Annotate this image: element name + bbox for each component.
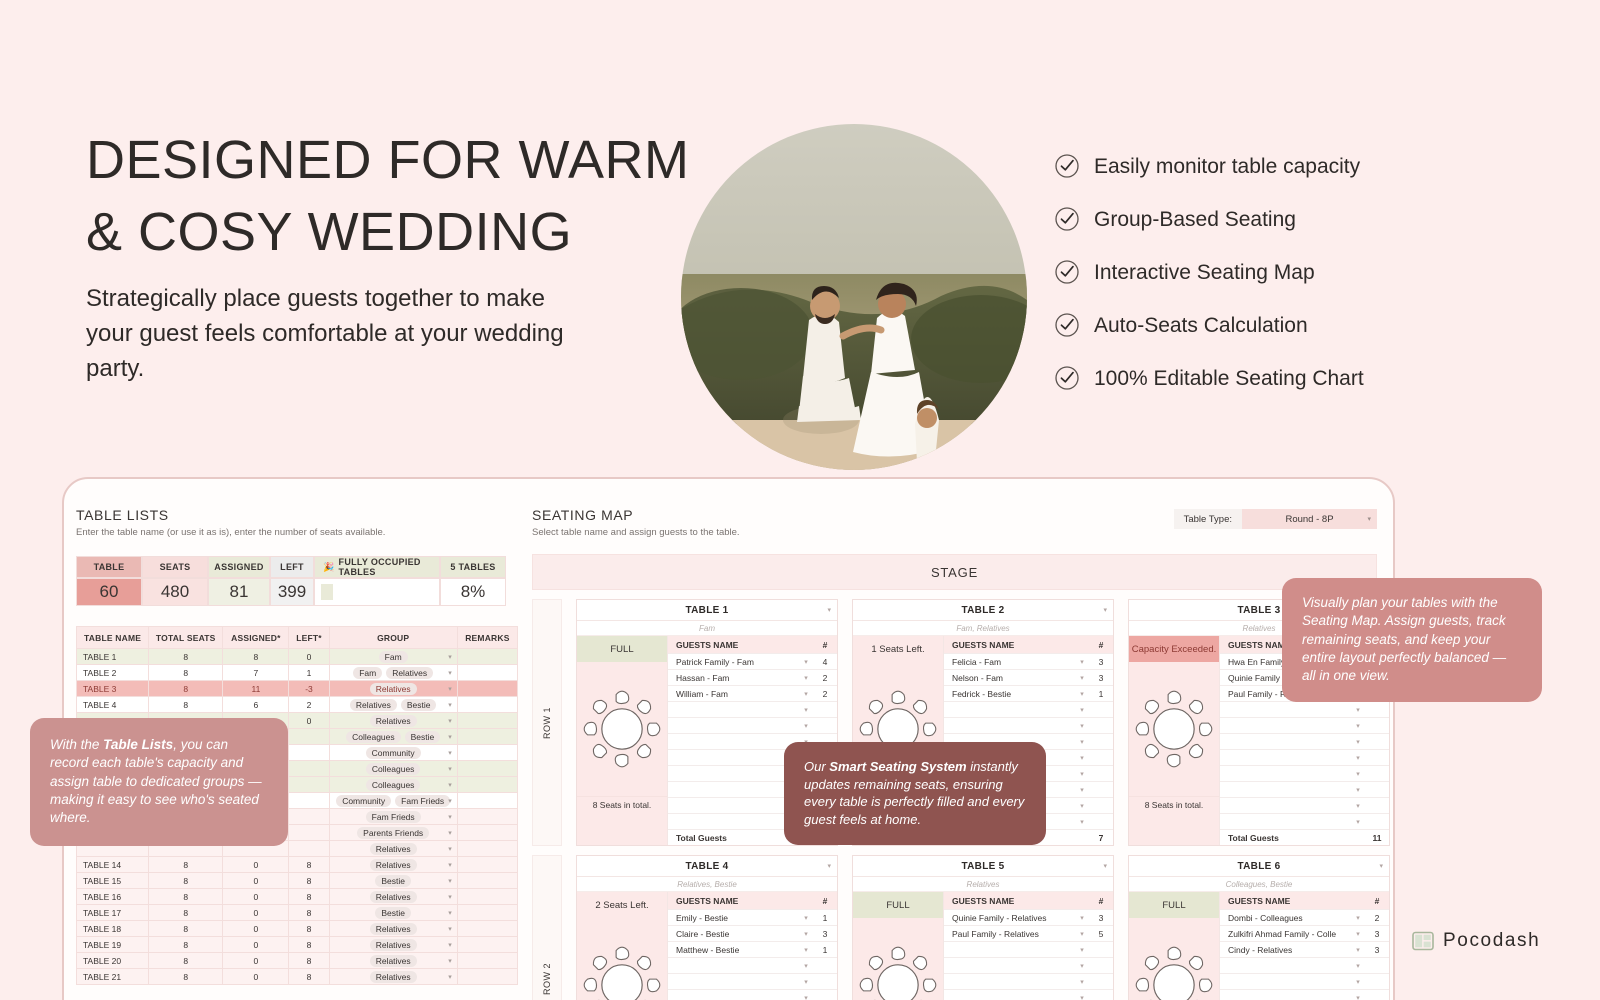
chevron-down-icon[interactable]: ▾ [448, 685, 452, 693]
summary-values-row: 60 480 81 399 8% [76, 578, 506, 606]
cell-left[interactable]: 8 [289, 953, 329, 969]
cell-left[interactable]: 8 [289, 969, 329, 985]
feature-item-3: Auto-Seats Calculation [1054, 299, 1474, 351]
chevron-down-icon[interactable]: ▾ [1351, 930, 1365, 938]
summary-value-left: 399 [270, 578, 314, 606]
chevron-down-icon[interactable]: ▾ [1351, 994, 1365, 1000]
guest-name: Nelson - Fam [944, 673, 1075, 683]
guest-row[interactable]: ▾ [1220, 957, 1389, 973]
chevron-down-icon[interactable]: ▾ [1075, 818, 1089, 826]
cell-assigned[interactable]: 0 [223, 889, 289, 905]
chevron-down-icon[interactable]: ▾ [1075, 706, 1089, 714]
guest-count: 2 [813, 689, 837, 699]
cell-group[interactable]: FamRelatives▾ [329, 665, 457, 681]
total-guests-value: 7 [1089, 833, 1113, 843]
cell-group[interactable]: Bestie▾ [329, 873, 457, 889]
cell-total[interactable]: 8 [149, 937, 223, 953]
cell-left[interactable]: 8 [289, 937, 329, 953]
cell-group[interactable]: Fam Frieds▾ [329, 809, 457, 825]
cell-name[interactable]: TABLE 1 [77, 649, 149, 665]
cell-group[interactable]: Relatives▾ [329, 857, 457, 873]
group-chip: Fam Frieds [366, 811, 421, 823]
cell-left[interactable]: 1 [289, 665, 329, 681]
guest-count: 1 [1089, 689, 1113, 699]
cell-remarks[interactable] [457, 745, 517, 761]
chevron-down-icon[interactable]: ▾ [448, 797, 452, 805]
summary-header-row: TABLE SEATS ASSIGNED LEFT 🎉 FULLY OCCUPI… [76, 556, 506, 578]
chevron-down-icon[interactable]: ▾ [1351, 786, 1365, 794]
group-chip: Community [336, 795, 391, 807]
guest-count: 3 [813, 929, 837, 939]
page-subtitle: Strategically place guests together to m… [86, 281, 586, 386]
group-chip: Bestie [405, 731, 441, 743]
chevron-down-icon[interactable]: ▾ [1075, 658, 1089, 666]
guest-row[interactable]: ▾ [1220, 813, 1389, 829]
chevron-down-icon[interactable]: ▾ [1351, 722, 1365, 730]
count-header: # [813, 896, 837, 906]
chevron-down-icon[interactable]: ▾ [827, 862, 831, 870]
chevron-down-icon[interactable]: ▾ [1075, 930, 1089, 938]
cell-remarks[interactable] [457, 825, 517, 841]
chevron-down-icon[interactable]: ▾ [1075, 802, 1089, 810]
cell-total[interactable]: 8 [149, 681, 223, 697]
cell-assigned[interactable]: 0 [223, 905, 289, 921]
table-row[interactable]: TABLE 21808Relatives▾ [77, 969, 518, 985]
cell-remarks[interactable] [457, 921, 517, 937]
cell-left[interactable] [289, 809, 329, 825]
guests-name-header: GUESTS NAME [1220, 896, 1365, 906]
guest-list: GUESTS NAME # Emily - Bestie ▾ 1 Claire … [667, 892, 837, 1000]
guest-name: Quinie Family - Relatives [944, 913, 1075, 923]
table-row[interactable]: TABLE 1880Fam▾ [77, 649, 518, 665]
cell-assigned[interactable]: 0 [223, 857, 289, 873]
table-status-badge: FULL [853, 892, 943, 918]
chevron-down-icon[interactable]: ▾ [1351, 978, 1365, 986]
check-circle-icon [1054, 365, 1080, 391]
guest-row[interactable]: Paul Family - Relatives ▾ 5 [944, 925, 1113, 941]
guest-row[interactable]: Felicia - Fam ▾ 3 [944, 653, 1113, 669]
cell-total[interactable]: 8 [149, 969, 223, 985]
cell-total[interactable]: 8 [149, 905, 223, 921]
chevron-down-icon[interactable]: ▾ [448, 845, 452, 853]
chevron-down-icon[interactable]: ▾ [448, 733, 452, 741]
guests-name-header: GUESTS NAME [668, 640, 813, 650]
chevron-down-icon[interactable]: ▾ [1379, 862, 1383, 870]
chevron-down-icon[interactable]: ▾ [448, 765, 452, 773]
cell-left[interactable]: 0 [289, 649, 329, 665]
cell-remarks[interactable] [457, 905, 517, 921]
table-row[interactable]: TABLE 4862RelativesBestie▾ [77, 697, 518, 713]
guest-name: Emily - Bestie [668, 913, 799, 923]
cell-left[interactable] [289, 825, 329, 841]
table-row[interactable]: TABLE 19808Relatives▾ [77, 937, 518, 953]
cell-name[interactable]: TABLE 18 [77, 921, 149, 937]
chevron-down-icon[interactable]: ▾ [799, 946, 813, 954]
guest-row[interactable]: ▾ [944, 701, 1113, 717]
group-chip: Bestie [401, 699, 437, 711]
table-lists-header-row: TABLE NAME TOTAL SEATS ASSIGNED* LEFT* G… [77, 627, 518, 649]
group-chip: Relatives [370, 859, 417, 871]
cell-group[interactable]: Colleagues▾ [329, 761, 457, 777]
table-card[interactable]: TABLE 6 ▾ Colleagues, Bestie FULL [1128, 855, 1390, 1000]
chevron-down-icon[interactable]: ▾ [1351, 754, 1365, 762]
cell-remarks[interactable] [457, 857, 517, 873]
chevron-down-icon[interactable]: ▾ [1351, 946, 1365, 954]
chevron-down-icon[interactable]: ▾ [799, 706, 813, 714]
cell-group[interactable]: Parents Friends▾ [329, 825, 457, 841]
guest-row[interactable]: ▾ [668, 957, 837, 973]
chevron-down-icon[interactable]: ▾ [448, 701, 452, 709]
chevron-down-icon[interactable]: ▾ [799, 674, 813, 682]
cell-remarks[interactable] [457, 873, 517, 889]
chevron-down-icon[interactable]: ▾ [448, 829, 452, 837]
guest-row[interactable]: ▾ [1220, 765, 1389, 781]
summary-value-seats: 480 [142, 578, 208, 606]
chevron-down-icon[interactable]: ▾ [448, 941, 452, 949]
guest-list-header: GUESTS NAME # [668, 636, 837, 653]
cell-name[interactable]: TABLE 17 [77, 905, 149, 921]
chevron-down-icon[interactable]: ▾ [448, 717, 452, 725]
cell-group[interactable]: ColleaguesBestie▾ [329, 729, 457, 745]
cell-left[interactable] [289, 841, 329, 857]
cell-total[interactable]: 8 [149, 873, 223, 889]
cell-left[interactable]: 8 [289, 905, 329, 921]
group-chip: Relatives [370, 955, 417, 967]
round-table-seats-icon [1129, 918, 1219, 1000]
stage-banner: STAGE [532, 554, 1377, 590]
cell-remarks[interactable] [457, 761, 517, 777]
guest-row[interactable]: Dombi - Colleagues ▾ 2 [1220, 909, 1389, 925]
chevron-down-icon[interactable]: ▾ [448, 957, 452, 965]
cell-left[interactable]: 8 [289, 889, 329, 905]
table-card-header[interactable]: TABLE 6 ▾ [1129, 856, 1389, 877]
guest-row[interactable]: Quinie Family - Relatives ▾ 3 [944, 909, 1113, 925]
chevron-down-icon[interactable]: ▾ [799, 978, 813, 986]
group-chip: Bestie [375, 907, 411, 919]
chevron-down-icon[interactable]: ▾ [1075, 962, 1089, 970]
table-row[interactable]: TABLE 14808Relatives▾ [77, 857, 518, 873]
cell-group[interactable]: Relatives▾ [329, 841, 457, 857]
chevron-down-icon[interactable]: ▾ [827, 606, 831, 614]
cell-total[interactable]: 8 [149, 697, 223, 713]
table-card[interactable]: TABLE 5 ▾ Relatives FULL 8 S [852, 855, 1114, 1000]
cell-group[interactable]: Colleagues▾ [329, 777, 457, 793]
guest-row[interactable]: ▾ [944, 941, 1113, 957]
guest-row[interactable]: Hassan - Fam ▾ 2 [668, 669, 837, 685]
guest-row[interactable]: William - Fam ▾ 2 [668, 685, 837, 701]
table-card-visual: FULL 8 Seats in total. [577, 636, 667, 845]
chevron-down-icon[interactable]: ▾ [799, 722, 813, 730]
summary-header-assigned: ASSIGNED [208, 556, 270, 578]
cell-assigned[interactable]: 0 [223, 921, 289, 937]
cell-remarks[interactable] [457, 729, 517, 745]
cell-remarks[interactable] [457, 841, 517, 857]
chevron-down-icon[interactable]: ▾ [1075, 786, 1089, 794]
total-guests-value: 11 [1365, 833, 1389, 843]
cell-total[interactable]: 8 [149, 665, 223, 681]
guest-row[interactable]: ▾ [1220, 989, 1389, 1000]
chevron-down-icon[interactable]: ▾ [799, 914, 813, 922]
chevron-down-icon[interactable]: ▾ [448, 925, 452, 933]
cell-left[interactable] [289, 745, 329, 761]
guests-name-header: GUESTS NAME [944, 640, 1089, 650]
cell-total[interactable]: 8 [149, 889, 223, 905]
guest-row[interactable]: Emily - Bestie ▾ 1 [668, 909, 837, 925]
hero-section: DESIGNED FOR WARM & COSY WEDDING Strateg… [0, 0, 1600, 470]
table-status-badge: FULL [577, 636, 667, 662]
guest-row[interactable]: Patrick Family - Fam ▾ 4 [668, 653, 837, 669]
chevron-down-icon[interactable]: ▾ [448, 781, 452, 789]
guest-row[interactable]: ▾ [668, 989, 837, 1000]
chevron-down-icon[interactable]: ▾ [1075, 674, 1089, 682]
guest-row[interactable]: ▾ [944, 973, 1113, 989]
cell-name[interactable]: TABLE 21 [77, 969, 149, 985]
guest-name: Fedrick - Bestie [944, 689, 1075, 699]
cell-assigned[interactable]: 0 [223, 937, 289, 953]
guest-row[interactable]: ▾ [1220, 717, 1389, 733]
cell-remarks[interactable] [457, 937, 517, 953]
cell-name[interactable]: TABLE 3 [77, 681, 149, 697]
table-type-label: Table Type: [1174, 509, 1242, 529]
guest-row[interactable]: Claire - Bestie ▾ 3 [668, 925, 837, 941]
group-chip: Relatives [370, 923, 417, 935]
chevron-down-icon[interactable]: ▾ [1075, 770, 1089, 778]
chevron-down-icon[interactable]: ▾ [1075, 914, 1089, 922]
cell-remarks[interactable] [457, 697, 517, 713]
cell-remarks[interactable] [457, 665, 517, 681]
table-card-visual: FULL 8 Seats in total. [853, 892, 943, 1000]
chevron-down-icon[interactable]: ▾ [799, 930, 813, 938]
chevron-down-icon[interactable]: ▾ [448, 909, 452, 917]
table-status-badge: FULL [1129, 892, 1219, 918]
cell-remarks[interactable] [457, 713, 517, 729]
chevron-down-icon[interactable]: ▾ [1075, 978, 1089, 986]
table-card-header[interactable]: TABLE 2 ▾ [853, 600, 1113, 621]
cell-left[interactable] [289, 729, 329, 745]
chevron-down-icon[interactable]: ▾ [448, 877, 452, 885]
guest-row[interactable]: Fedrick - Bestie ▾ 1 [944, 685, 1113, 701]
cell-left[interactable]: 8 [289, 921, 329, 937]
cell-name[interactable]: TABLE 15 [77, 873, 149, 889]
table-type-value[interactable]: Round - 8P ▾ [1242, 509, 1377, 529]
summary-header-left: LEFT [270, 556, 314, 578]
chevron-down-icon[interactable]: ▾ [1351, 706, 1365, 714]
check-circle-icon [1054, 312, 1080, 338]
guest-row[interactable]: ▾ [668, 717, 837, 733]
chevron-down-icon[interactable]: ▾ [1075, 722, 1089, 730]
table-card-groups: Colleagues, Bestie [1129, 877, 1389, 892]
guest-row[interactable]: Zulkifri Ahmad Family - Colle ▾ 3 [1220, 925, 1389, 941]
table-card-title: TABLE 1 [685, 605, 728, 616]
group-chip: Fam [379, 651, 408, 663]
guest-list-header: GUESTS NAME # [944, 892, 1113, 909]
guest-row[interactable]: ▾ [944, 989, 1113, 1000]
chevron-down-icon[interactable]: ▾ [1351, 738, 1365, 746]
cell-total[interactable]: 8 [149, 953, 223, 969]
page-title-line-1: DESIGNED FOR WARM [86, 124, 706, 196]
cell-remarks[interactable] [457, 681, 517, 697]
guest-row[interactable]: ▾ [1220, 701, 1389, 717]
guest-name: Cindy - Relatives [1220, 945, 1351, 955]
cell-group[interactable]: Relatives▾ [329, 937, 457, 953]
cell-group[interactable]: Relatives▾ [329, 969, 457, 985]
cell-remarks[interactable] [457, 793, 517, 809]
cell-remarks[interactable] [457, 969, 517, 985]
feature-list: Easily monitor table capacity Group-Base… [1054, 140, 1474, 404]
chevron-down-icon[interactable]: ▾ [799, 994, 813, 1000]
table-lists-title: TABLE LISTS [76, 507, 516, 523]
cell-name[interactable]: TABLE 14 [77, 857, 149, 873]
cell-assigned[interactable]: 0 [223, 953, 289, 969]
feature-item-0: Easily monitor table capacity [1054, 140, 1474, 192]
table-card[interactable]: TABLE 4 ▾ Relatives, Bestie 2 Seats Left… [576, 855, 838, 1000]
chevron-down-icon[interactable]: ▾ [448, 669, 452, 677]
cell-group[interactable]: CommunityFam Frieds▾ [329, 793, 457, 809]
cell-remarks[interactable] [457, 889, 517, 905]
table-row[interactable]: TABLE 18808Relatives▾ [77, 921, 518, 937]
cell-group[interactable]: Relatives▾ [329, 713, 457, 729]
cell-group[interactable]: Relatives▾ [329, 681, 457, 697]
guest-row[interactable]: Cindy - Relatives ▾ 3 [1220, 941, 1389, 957]
table-card-header[interactable]: TABLE 4 ▾ [577, 856, 837, 877]
guest-list: GUESTS NAME # Dombi - Colleagues ▾ 2 Zul… [1219, 892, 1389, 1000]
count-header: # [1089, 640, 1113, 650]
chevron-down-icon[interactable]: ▾ [1103, 862, 1107, 870]
cell-assigned[interactable]: 6 [223, 697, 289, 713]
guest-list: GUESTS NAME # Quinie Family - Relatives … [943, 892, 1113, 1000]
cell-assigned[interactable]: 11 [223, 681, 289, 697]
table-row[interactable]: TABLE 20808Relatives▾ [77, 953, 518, 969]
chevron-down-icon[interactable]: ▾ [1103, 606, 1107, 614]
cell-group[interactable]: RelativesBestie▾ [329, 697, 457, 713]
col-header-assigned: ASSIGNED* [223, 627, 289, 649]
guest-row[interactable]: ▾ [1220, 781, 1389, 797]
guest-row[interactable]: ▾ [668, 701, 837, 717]
chevron-down-icon[interactable]: ▾ [1075, 738, 1089, 746]
cell-left[interactable]: -3 [289, 681, 329, 697]
guests-name-header: GUESTS NAME [668, 896, 813, 906]
col-header-left: LEFT* [289, 627, 329, 649]
cell-assigned[interactable]: 0 [223, 873, 289, 889]
guest-count: 3 [1365, 945, 1389, 955]
table-card-header[interactable]: TABLE 5 ▾ [853, 856, 1113, 877]
cell-assigned[interactable]: 8 [223, 649, 289, 665]
cell-assigned[interactable]: 7 [223, 665, 289, 681]
cell-group[interactable]: Relatives▾ [329, 889, 457, 905]
cell-name[interactable]: TABLE 20 [77, 953, 149, 969]
cell-name[interactable]: TABLE 19 [77, 937, 149, 953]
callout-2-bold: Smart Seating System [829, 759, 966, 774]
cell-name[interactable]: TABLE 16 [77, 889, 149, 905]
summary-header-seats: SEATS [142, 556, 208, 578]
cell-name[interactable]: TABLE 4 [77, 697, 149, 713]
cell-remarks[interactable] [457, 809, 517, 825]
wedding-couple-photo [681, 124, 1027, 470]
cell-left[interactable]: 2 [289, 697, 329, 713]
guest-row[interactable]: Matthew - Bestie ▾ 1 [668, 941, 837, 957]
cell-left[interactable] [289, 793, 329, 809]
cell-group[interactable]: Relatives▾ [329, 921, 457, 937]
cell-left[interactable]: 0 [289, 713, 329, 729]
cell-total[interactable]: 8 [149, 857, 223, 873]
guest-row[interactable]: ▾ [1220, 733, 1389, 749]
chevron-down-icon[interactable]: ▾ [799, 962, 813, 970]
check-circle-icon [1054, 259, 1080, 285]
cell-group[interactable]: Relatives▾ [329, 953, 457, 969]
cell-remarks[interactable] [457, 777, 517, 793]
chevron-down-icon[interactable]: ▾ [1075, 946, 1089, 954]
seating-map-title: SEATING MAP [532, 507, 1174, 523]
chevron-down-icon[interactable]: ▾ [1351, 802, 1365, 810]
group-chip: Relatives [370, 971, 417, 983]
chevron-down-icon[interactable]: ▾ [1351, 770, 1365, 778]
cell-left[interactable] [289, 777, 329, 793]
chevron-down-icon[interactable]: ▾ [448, 893, 452, 901]
chevron-down-icon[interactable]: ▾ [1351, 914, 1365, 922]
chevron-down-icon[interactable]: ▾ [1075, 690, 1089, 698]
table-row[interactable]: TABLE 17808Bestie▾ [77, 905, 518, 921]
cell-group[interactable]: Community▾ [329, 745, 457, 761]
summary-block: TABLE SEATS ASSIGNED LEFT 🎉 FULLY OCCUPI… [76, 556, 506, 606]
guest-count: 3 [1089, 657, 1113, 667]
guest-row[interactable]: ▾ [668, 973, 837, 989]
chevron-down-icon[interactable]: ▾ [1351, 818, 1365, 826]
guest-row[interactable]: ▾ [1220, 973, 1389, 989]
cell-total[interactable]: 8 [149, 649, 223, 665]
cell-assigned[interactable]: 0 [223, 969, 289, 985]
guest-row[interactable]: Nelson - Fam ▾ 3 [944, 669, 1113, 685]
group-chip: Relatives [350, 699, 397, 711]
chevron-down-icon[interactable]: ▾ [1351, 962, 1365, 970]
guest-row[interactable]: ▾ [1220, 749, 1389, 765]
cell-left[interactable]: 8 [289, 873, 329, 889]
chevron-down-icon[interactable]: ▾ [448, 813, 452, 821]
guest-count: 3 [1089, 913, 1113, 923]
table-type-value-text: Round - 8P [1285, 514, 1333, 525]
chevron-down-icon[interactable]: ▾ [448, 653, 452, 661]
feature-label: 100% Editable Seating Chart [1094, 368, 1364, 389]
cell-remarks[interactable] [457, 649, 517, 665]
cell-left[interactable]: 8 [289, 857, 329, 873]
table-row[interactable]: TABLE 15808Bestie▾ [77, 873, 518, 889]
guest-row[interactable]: ▾ [1220, 797, 1389, 813]
cell-total[interactable]: 8 [149, 921, 223, 937]
table-type-selector[interactable]: Table Type: Round - 8P ▾ [1174, 509, 1377, 529]
chevron-down-icon[interactable]: ▾ [799, 658, 813, 666]
table-card-header[interactable]: TABLE 1 ▾ [577, 600, 837, 621]
chevron-down-icon[interactable]: ▾ [448, 973, 452, 981]
chevron-down-icon[interactable]: ▾ [799, 690, 813, 698]
page-title-line-2: & COSY WEDDING [86, 196, 706, 268]
chevron-down-icon[interactable]: ▾ [1075, 994, 1089, 1000]
cell-left[interactable] [289, 761, 329, 777]
cell-name[interactable]: TABLE 2 [77, 665, 149, 681]
guest-row[interactable]: ▾ [944, 717, 1113, 733]
row-label: ROW 1 [532, 599, 562, 846]
chevron-down-icon[interactable]: ▾ [1075, 754, 1089, 762]
table-row[interactable]: TABLE 3811-3Relatives▾ [77, 681, 518, 697]
guest-count: 2 [813, 673, 837, 683]
table-row[interactable]: TABLE 2871FamRelatives▾ [77, 665, 518, 681]
cell-remarks[interactable] [457, 953, 517, 969]
cell-group[interactable]: Bestie▾ [329, 905, 457, 921]
guest-row[interactable]: ▾ [944, 957, 1113, 973]
seating-map-row: ROW 2 TABLE 4 ▾ Relatives, Bestie 2 Seat… [532, 855, 1377, 1000]
cell-group[interactable]: Fam▾ [329, 649, 457, 665]
chevron-down-icon[interactable]: ▾ [448, 749, 452, 757]
chevron-down-icon[interactable]: ▾ [448, 861, 452, 869]
table-row[interactable]: TABLE 16808Relatives▾ [77, 889, 518, 905]
